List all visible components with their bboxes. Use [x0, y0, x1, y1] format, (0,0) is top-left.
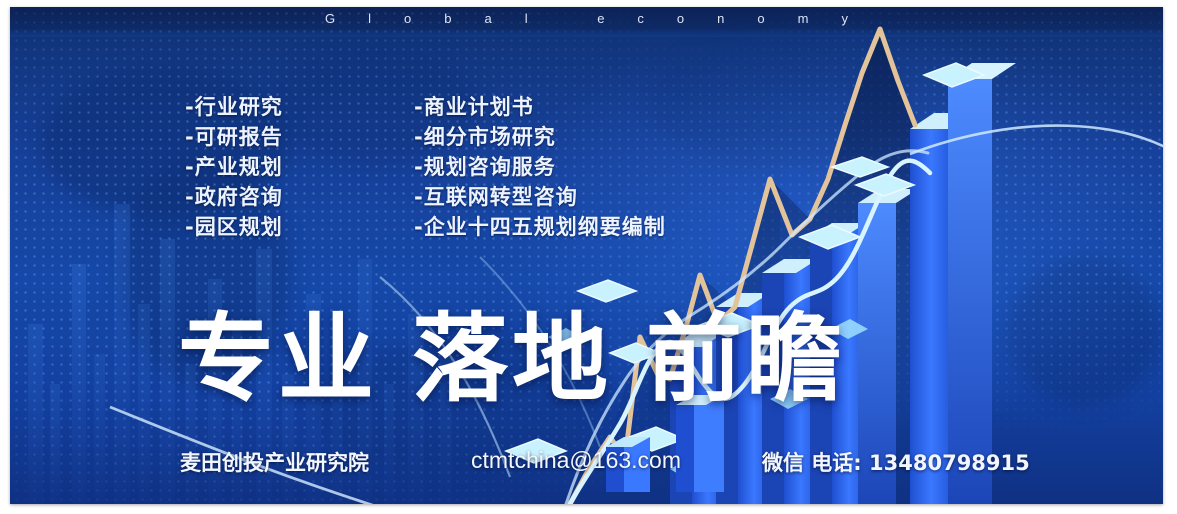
- headline-word-2: 落地: [412, 307, 612, 411]
- service-item: -规划咨询服务: [414, 152, 666, 182]
- promo-banner: Global economy -行业研究 -可研报告 -产业规划 -政府咨询 -…: [10, 7, 1163, 504]
- footer-contact-row: 麦田创投产业研究院 ctmtchina@163.com 微信 电话: 13480…: [180, 447, 1140, 481]
- headline-word-3: 前瞻: [646, 307, 846, 411]
- headline: 专业落地前瞻: [178, 307, 846, 411]
- headline-word-1: 专业: [178, 307, 378, 411]
- service-item: -行业研究: [185, 92, 283, 122]
- service-item: -产业规划: [185, 152, 283, 182]
- service-item: -互联网转型咨询: [414, 182, 666, 212]
- email-address[interactable]: ctmtchina@163.com: [471, 447, 681, 474]
- organization-name: 麦田创投产业研究院: [180, 447, 369, 477]
- contact-phone: 微信 电话: 13480798915: [762, 447, 1030, 477]
- service-item: -可研报告: [185, 122, 283, 152]
- services-left-column: -行业研究 -可研报告 -产业规划 -政府咨询 -园区规划: [185, 92, 283, 242]
- service-item: -细分市场研究: [414, 122, 666, 152]
- economy-chart-graphic: [10, 7, 1163, 504]
- top-label: Global economy: [10, 11, 1163, 26]
- service-item: -园区规划: [185, 212, 283, 242]
- service-item: -企业十四五规划纲要编制: [414, 212, 666, 242]
- service-item: -商业计划书: [414, 92, 666, 122]
- service-item: -政府咨询: [185, 182, 283, 212]
- services-right-column: -商业计划书 -细分市场研究 -规划咨询服务 -互联网转型咨询 -企业十四五规划…: [414, 92, 666, 242]
